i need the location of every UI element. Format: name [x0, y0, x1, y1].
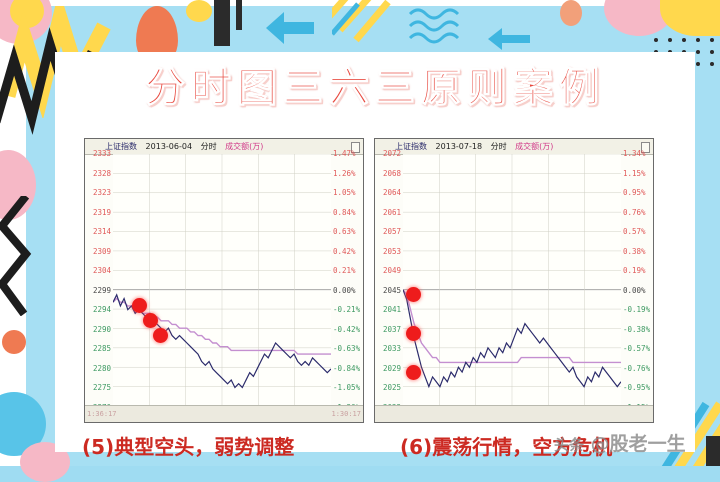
- percent-tick: 0.19%: [623, 267, 646, 275]
- percent-tick: 0.00%: [623, 287, 646, 295]
- price-tick: 2309: [93, 248, 111, 256]
- price-tick: 2299: [93, 287, 111, 295]
- chart-percent-axis-right: 1.34%1.15%0.95%0.76%0.57%0.38%0.19%0.00%…: [621, 154, 653, 406]
- price-tick: 2290: [93, 326, 111, 334]
- page-title: 分时图三六三原则案例: [55, 62, 695, 114]
- percent-tick: -1.05%: [333, 384, 360, 392]
- decor-dark-bar-2: [236, 0, 242, 30]
- price-tick: 2280: [93, 365, 111, 373]
- chart-footer-left-text: 1:36:17: [87, 406, 117, 422]
- decor-black-zigzag-left-icon: [0, 196, 36, 316]
- chart-mode-left: 分时: [201, 142, 217, 151]
- percent-tick: 0.38%: [623, 248, 646, 256]
- chart-header-left: 上证指数 2013-06-04 分时 成交额(万): [85, 139, 363, 155]
- price-tick: 2037: [383, 326, 401, 334]
- chart-mode-right: 分时: [491, 142, 507, 151]
- decor-dark-bar-1: [214, 0, 230, 46]
- price-tick: 2294: [93, 306, 111, 314]
- decor-yellow-dot-top-left: [10, 0, 44, 28]
- price-tick: 2057: [383, 228, 401, 236]
- percent-tick: -0.95%: [623, 384, 650, 392]
- percent-tick: 0.57%: [623, 228, 646, 236]
- chart-price-axis-left: 2333232823232319231423092304229922942290…: [85, 154, 113, 406]
- price-tick: 2025: [383, 384, 401, 392]
- price-tick: 2061: [383, 209, 401, 217]
- decor-yellow-blob-top-right: [660, 0, 720, 36]
- percent-tick: -0.19%: [623, 306, 650, 314]
- percent-tick: 0.00%: [333, 287, 356, 295]
- price-tick: 2328: [93, 170, 111, 178]
- chart-volume-label-left: 成交额(万): [225, 142, 263, 151]
- percent-tick: -0.38%: [623, 326, 650, 334]
- percent-tick: 1.26%: [333, 170, 356, 178]
- price-tick: 2049: [383, 267, 401, 275]
- percent-tick: 0.21%: [333, 267, 356, 275]
- background-top-strip: [0, 0, 720, 6]
- price-tick: 2072: [383, 150, 401, 158]
- price-tick: 2275: [93, 384, 111, 392]
- percent-tick: 0.76%: [623, 209, 646, 217]
- price-tick: 2285: [93, 345, 111, 353]
- chart-footer-right: [375, 405, 653, 422]
- percent-tick: 0.63%: [333, 228, 356, 236]
- price-tick: 2053: [383, 248, 401, 256]
- watermark-handle: @股老一生: [591, 433, 686, 455]
- percent-tick: -0.42%: [333, 326, 360, 334]
- price-tick: 2029: [383, 365, 401, 373]
- percent-tick: -0.84%: [333, 365, 360, 373]
- decor-orange-dot-right: [560, 0, 582, 26]
- percent-tick: -0.76%: [623, 365, 650, 373]
- chart-header-right: 上证指数 2013-07-18 分时 成交额(万): [375, 139, 653, 155]
- percent-tick: -0.21%: [333, 306, 360, 314]
- chart-panel-right[interactable]: 上证指数 2013-07-18 分时 成交额(万) 20722068206420…: [374, 138, 654, 423]
- chart-panel-left[interactable]: 上证指数 2013-06-04 分时 成交额(万) 23332328232323…: [84, 138, 364, 423]
- percent-tick: 1.47%: [333, 150, 356, 158]
- price-tick: 2304: [93, 267, 111, 275]
- decor-arrow-left-icon: [262, 6, 318, 50]
- decor-orange-dot-left: [2, 330, 26, 354]
- price-tick: 2033: [383, 345, 401, 353]
- chart-marker-dot: [406, 365, 421, 380]
- chart-plot-right[interactable]: [403, 154, 621, 406]
- price-tick: 2323: [93, 189, 111, 197]
- price-tick: 2068: [383, 170, 401, 178]
- price-tick: 2064: [383, 189, 401, 197]
- percent-tick: 1.15%: [623, 170, 646, 178]
- background-left-strip: [0, 0, 26, 466]
- price-tick: 2319: [93, 209, 111, 217]
- decor-wave-lines-icon: [408, 4, 478, 44]
- price-tick: 2045: [383, 287, 401, 295]
- chart-volume-label-right: 成交额(万): [515, 142, 553, 151]
- percent-tick: 0.95%: [623, 189, 646, 197]
- percent-tick: -0.63%: [333, 345, 360, 353]
- chart-date-right: 2013-07-18: [436, 142, 483, 151]
- decor-pink-blob-top-left: [0, 0, 52, 44]
- decor-blue-blob-bottom-left: [0, 392, 46, 456]
- decor-dark-bar-bottom-right: [706, 436, 720, 466]
- percent-tick: 0.84%: [333, 209, 356, 217]
- decor-pink-blob-left: [0, 150, 36, 220]
- price-tick: 2314: [93, 228, 111, 236]
- chart-date-left: 2013-06-04: [146, 142, 193, 151]
- chart-percent-axis-left: 1.47%1.26%1.05%0.84%0.63%0.42%0.21%0.00%…: [331, 154, 363, 406]
- caption-left: (5)典型空头，弱势调整: [82, 432, 294, 462]
- watermark: 头条 @股老一生: [554, 428, 686, 460]
- percent-tick: 1.34%: [623, 150, 646, 158]
- percent-tick: -0.57%: [623, 345, 650, 353]
- chart-plot-left[interactable]: [113, 154, 331, 406]
- chart-marker-dot: [143, 313, 158, 328]
- decor-pink-blob-top-right: [604, 0, 674, 36]
- chart-price-axis-right: 2072206820642061205720532049204520412037…: [375, 154, 403, 406]
- price-tick: 2041: [383, 306, 401, 314]
- chart-footer-right-text: 1:30:17: [331, 406, 361, 422]
- price-tick: 2333: [93, 150, 111, 158]
- watermark-source: 头条: [554, 436, 584, 454]
- percent-tick: 1.05%: [333, 189, 356, 197]
- decor-yellow-dot-top: [186, 0, 212, 22]
- chart-footer-left: 1:36:17 1:30:17: [85, 405, 363, 422]
- decor-arrow-left-icon-2: [486, 26, 532, 52]
- percent-tick: 0.42%: [333, 248, 356, 256]
- decor-stripes-top-icon: [332, 0, 392, 46]
